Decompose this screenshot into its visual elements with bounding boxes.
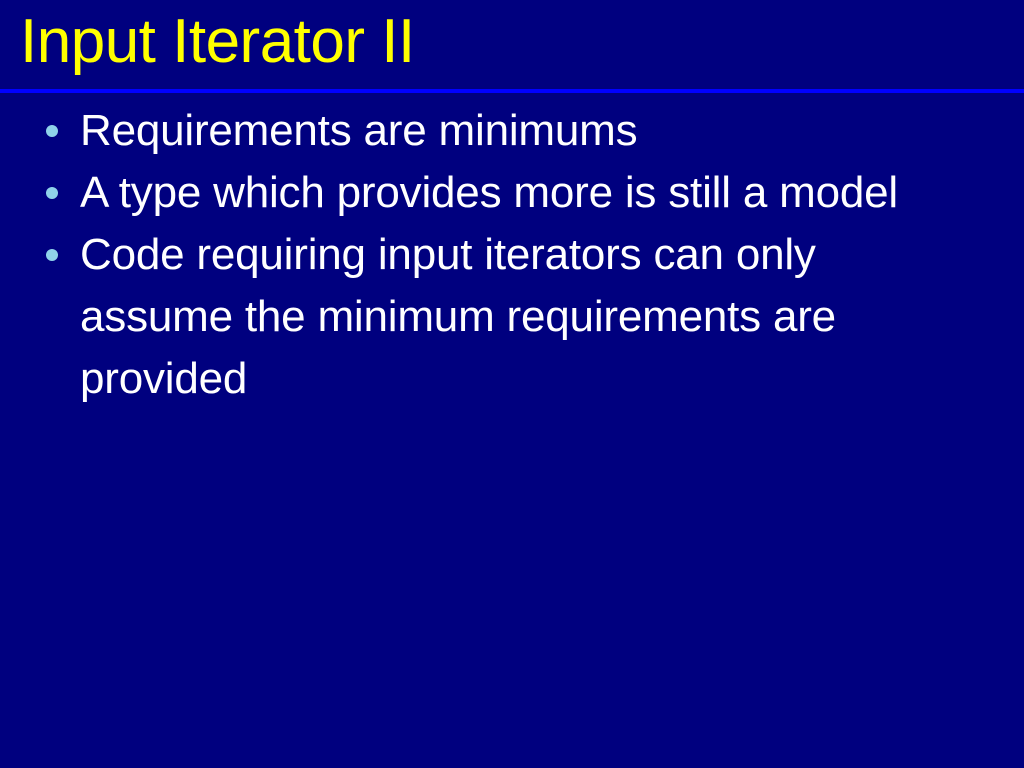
list-item: Requirements are minimums	[0, 100, 1024, 162]
list-item: Code requiring input iterators can only …	[0, 224, 1024, 410]
bullet-point-icon	[46, 125, 58, 137]
list-item-label: Requirements are minimums	[80, 100, 970, 162]
title-divider	[0, 89, 1024, 93]
slide-title-area: Input Iterator II	[0, 0, 1024, 90]
list-item: A type which provides more is still a mo…	[0, 162, 1024, 224]
bullet-list: Requirements are minimums A type which p…	[0, 100, 1024, 410]
page-title: Input Iterator II	[20, 2, 415, 82]
slide: Input Iterator II Requirements are minim…	[0, 0, 1024, 768]
list-item-label: A type which provides more is still a mo…	[80, 162, 970, 224]
bullet-point-icon	[46, 249, 58, 261]
list-item-label: Code requiring input iterators can only …	[80, 224, 970, 410]
bullet-point-icon	[46, 187, 58, 199]
